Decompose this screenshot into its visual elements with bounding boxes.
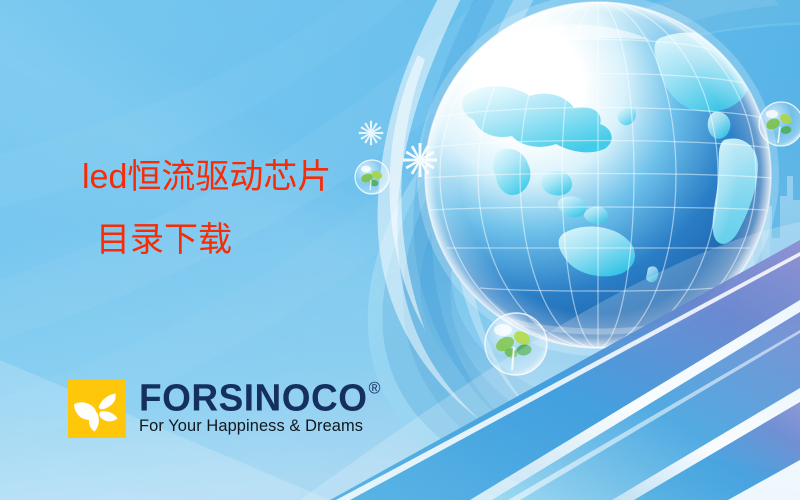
bubble-small-left — [355, 160, 389, 194]
company-logo: FORSINOCO ® For Your Happiness & Dreams — [68, 380, 381, 438]
logo-text-block: FORSINOCO ® For Your Happiness & Dreams — [139, 380, 381, 436]
headline: led恒流驱动芯片 目录下载 — [82, 160, 331, 257]
four-petal-pinwheel-icon — [68, 380, 126, 438]
banner-slide: led恒流驱动芯片 目录下载 FORSINOCO ® — [0, 0, 800, 500]
bubble-right-edge — [759, 102, 800, 146]
headline-line-2: 目录下载 — [96, 223, 331, 257]
pinwheel-glyph — [68, 380, 126, 438]
tagline: For Your Happiness & Dreams — [139, 417, 363, 436]
wordmark-text: FORSINOCO — [139, 380, 368, 416]
registered-trademark-icon: ® — [369, 381, 381, 397]
wordmark: FORSINOCO ® — [139, 380, 381, 416]
headline-line-1: led恒流驱动芯片 — [82, 160, 331, 194]
